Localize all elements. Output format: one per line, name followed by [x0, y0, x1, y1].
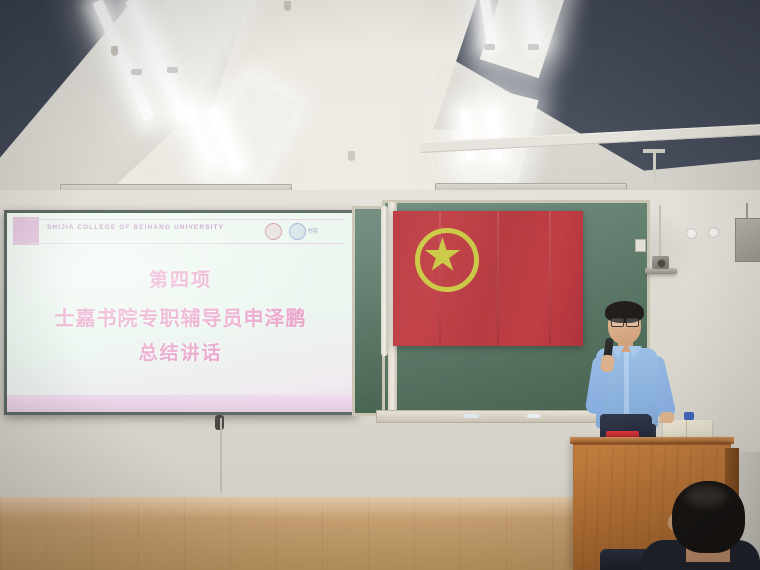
wall-fixture-dot-2 — [708, 227, 719, 238]
slide-header-english: SHIJIA COLLEGE OF BEIHANG UNIVERSITY — [47, 224, 224, 231]
sprinkler-head-3 — [284, 1, 291, 11]
wall-box-wire — [746, 203, 748, 219]
flag-hanging-rod — [381, 206, 388, 356]
wall-switch-plate[interactable] — [635, 239, 646, 252]
shijia-college-logo-label: 书院 — [307, 227, 318, 235]
speaker-right-hand — [660, 412, 674, 423]
pull-cord[interactable] — [220, 418, 222, 493]
chalk-piece-2[interactable] — [527, 414, 540, 418]
slide-title-line1: 第四项 — [7, 265, 354, 292]
ceiling-hanger-plate — [643, 149, 665, 153]
sprinkler-head-2 — [348, 151, 355, 161]
communist-youth-league-flag — [393, 211, 583, 346]
ceiling-hanger-rod — [653, 152, 656, 182]
projection-screen[interactable]: SHIJIA COLLEGE OF BEIHANG UNIVERSITY 书院 … — [7, 213, 354, 412]
eyeglasses-lens-right — [626, 318, 639, 327]
wall-fixture-dot-1 — [686, 228, 697, 239]
tube-cap-1 — [131, 69, 142, 75]
eyeglasses-lens-left — [611, 318, 624, 327]
slide-header-rule-bottom — [29, 243, 344, 244]
sprinkler-head-1 — [111, 46, 118, 56]
flag-fold-3 — [549, 211, 551, 346]
tube-cap-2 — [167, 67, 178, 73]
flag-fold-2 — [497, 211, 499, 346]
slide-title-line3: 总结讲话 — [7, 338, 354, 365]
tube-cap-4 — [528, 44, 539, 50]
shijia-college-logo — [289, 223, 306, 240]
slide-accent-block — [13, 217, 39, 245]
slide-footer-band — [7, 395, 354, 412]
tube-cap-3 — [484, 44, 495, 50]
slide-header-rule-top — [29, 219, 344, 220]
grey-wall-box — [735, 218, 760, 262]
slide-title-line2: 士嘉书院专职辅导员申泽鹏 — [7, 302, 354, 331]
podium-blue-object[interactable] — [684, 412, 694, 420]
ceiling — [0, 0, 760, 200]
camera-lens-icon — [657, 259, 666, 268]
lecture-hall-photo: SHIJIA COLLEGE OF BEIHANG UNIVERSITY 书院 … — [0, 0, 760, 570]
chalk-piece-1[interactable] — [463, 414, 479, 418]
camera-mount-pole — [659, 205, 661, 257]
audience-hair-highlight — [686, 486, 726, 506]
beihang-seal-logo — [265, 223, 282, 240]
